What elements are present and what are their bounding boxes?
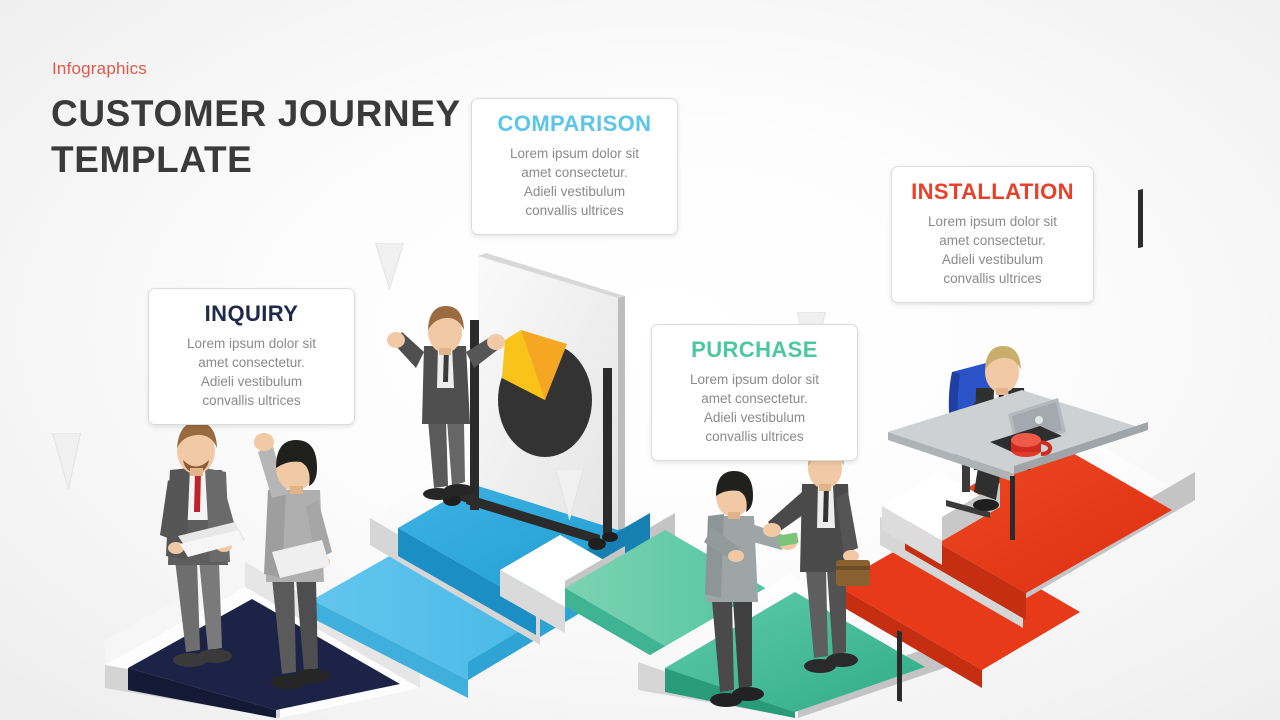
body-line-1: Lorem ipsum dolor sit	[163, 334, 340, 353]
callout-title-purchase: PURCHASE	[666, 337, 843, 363]
body-line-1: Lorem ipsum dolor sit	[666, 370, 843, 389]
callout-body-purchase: Lorem ipsum dolor sit amet consectetur. …	[666, 370, 843, 446]
callout-tail-purchase	[548, 469, 755, 521]
body-line-2: amet consectetur.	[666, 389, 843, 408]
callout-body-installation: Lorem ipsum dolor sit amet consectetur. …	[906, 212, 1079, 288]
infographic-canvas: Infographics CUSTOMER JOURNEY TEMPLATE	[0, 0, 1280, 720]
callout-tail-inquiry	[45, 433, 252, 491]
body-line-2: amet consectetur.	[163, 353, 340, 372]
body-line-3: Adieli vestibulum	[486, 182, 663, 201]
hand-raised	[254, 433, 274, 451]
body-line-4: convallis ultrices	[906, 269, 1079, 288]
callout-card-purchase[interactable]: PURCHASE Lorem ipsum dolor sit amet cons…	[651, 324, 858, 461]
body-line-1: Lorem ipsum dolor sit	[486, 144, 663, 163]
body-line-2: amet consectetur.	[486, 163, 663, 182]
body-line-3: Adieli vestibulum	[666, 408, 843, 427]
callout-tail-comparison	[368, 243, 575, 291]
body-line-4: convallis ultrices	[666, 427, 843, 446]
callout-body-inquiry: Lorem ipsum dolor sit amet consectetur. …	[163, 334, 340, 410]
callout-card-installation[interactable]: INSTALLATION Lorem ipsum dolor sit amet …	[891, 166, 1094, 303]
briefcase	[836, 560, 870, 586]
body-line-1: Lorem ipsum dolor sit	[906, 212, 1079, 231]
callout-card-comparison[interactable]: COMPARISON Lorem ipsum dolor sit amet co…	[471, 98, 678, 235]
callout-title-installation: INSTALLATION	[906, 179, 1079, 205]
hand-left	[387, 332, 405, 348]
body-line-2: amet consectetur.	[906, 231, 1079, 250]
hand-right	[487, 334, 505, 350]
body-line-4: convallis ultrices	[163, 391, 340, 410]
callout-body-comparison: Lorem ipsum dolor sit amet consectetur. …	[486, 144, 663, 220]
callout-title-comparison: COMPARISON	[486, 111, 663, 137]
body-line-3: Adieli vestibulum	[906, 250, 1079, 269]
callout-card-inquiry[interactable]: INQUIRY Lorem ipsum dolor sit amet conse…	[148, 288, 355, 425]
callout-title-inquiry: INQUIRY	[163, 301, 340, 327]
body-line-3: Adieli vestibulum	[163, 372, 340, 391]
body-line-4: convallis ultrices	[486, 201, 663, 220]
